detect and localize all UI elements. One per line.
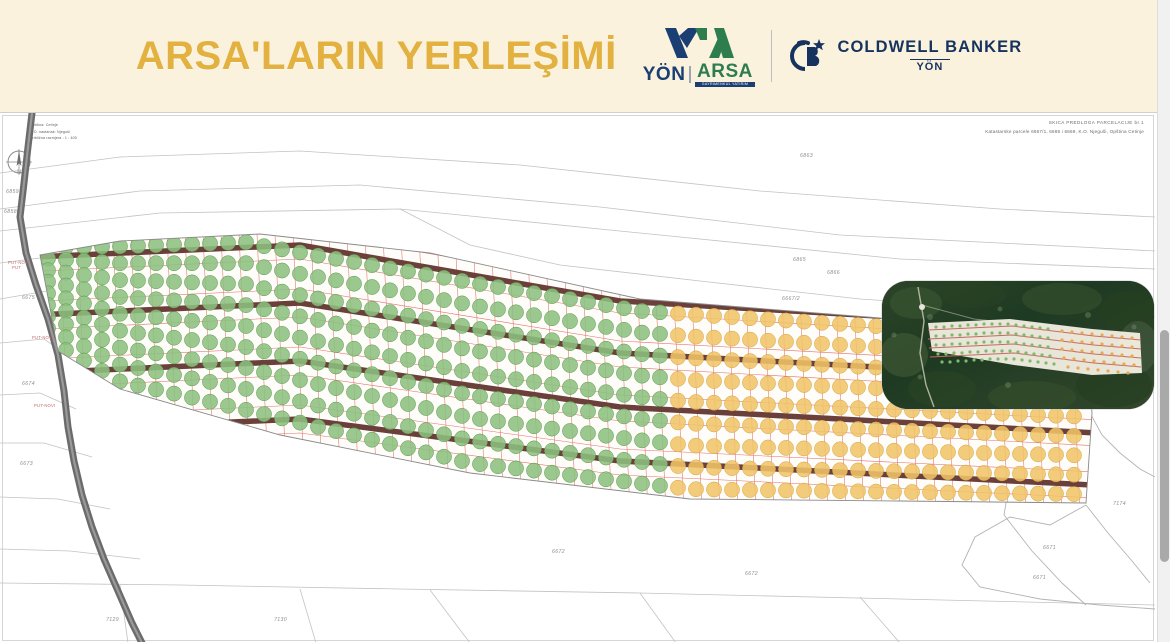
parcel-circle[interactable] xyxy=(508,282,523,297)
parcel-circle[interactable] xyxy=(580,426,595,441)
parcel-circle[interactable] xyxy=(994,426,1009,441)
parcel-circle[interactable] xyxy=(598,428,613,443)
parcel-circle[interactable] xyxy=(742,397,757,412)
parcel-circle[interactable] xyxy=(1066,428,1081,443)
parcel-circle[interactable] xyxy=(850,442,865,457)
parcel-circle[interactable] xyxy=(760,376,775,391)
parcel-circle[interactable] xyxy=(364,323,379,338)
parcel-circle[interactable] xyxy=(346,406,361,421)
parcel-circle[interactable] xyxy=(364,258,379,273)
parcel-circle[interactable] xyxy=(454,318,469,333)
parcel-circle[interactable] xyxy=(364,279,379,294)
parcel-circle[interactable] xyxy=(310,419,325,434)
parcel-circle[interactable] xyxy=(544,289,559,304)
parcel-circle[interactable] xyxy=(1012,486,1027,501)
parcel-circle[interactable] xyxy=(292,330,307,345)
parcel-circle[interactable] xyxy=(526,441,541,456)
parcel-circle[interactable] xyxy=(670,306,685,321)
parcel-circle[interactable] xyxy=(310,270,325,285)
parcel-circle[interactable] xyxy=(292,394,307,409)
parcel-circle[interactable] xyxy=(274,326,289,341)
parcel-circle[interactable] xyxy=(544,311,559,326)
parcel-circle[interactable] xyxy=(1012,446,1027,461)
parcel-circle[interactable] xyxy=(94,332,109,347)
parcel-circle[interactable] xyxy=(418,400,433,415)
parcel-circle[interactable] xyxy=(850,380,865,395)
parcel-circle[interactable] xyxy=(130,256,145,271)
parcel-circle[interactable] xyxy=(292,415,307,430)
parcel-circle[interactable] xyxy=(778,419,793,434)
parcel-circle[interactable] xyxy=(958,425,973,440)
parcel-circle[interactable] xyxy=(526,374,541,389)
parcel-circle[interactable] xyxy=(1048,467,1063,482)
parcel-circle[interactable] xyxy=(742,418,757,433)
parcel-circle[interactable] xyxy=(418,267,433,282)
parcel-circle[interactable] xyxy=(814,336,829,351)
parcel-circle[interactable] xyxy=(796,377,811,392)
parcel-circle[interactable] xyxy=(724,353,739,368)
parcel-circle[interactable] xyxy=(742,439,757,454)
parcel-circle[interactable] xyxy=(796,483,811,498)
parcel-circle[interactable] xyxy=(562,467,577,482)
parcel-circle[interactable] xyxy=(616,431,631,446)
parcel-circle[interactable] xyxy=(202,374,217,389)
parcel-circle[interactable] xyxy=(688,438,703,453)
parcel-circle[interactable] xyxy=(526,396,541,411)
parcel-circle[interactable] xyxy=(346,341,361,356)
parcel-circle[interactable] xyxy=(256,386,271,401)
parcel-circle[interactable] xyxy=(490,414,505,429)
parcel-circle[interactable] xyxy=(598,298,613,313)
parcel-circle[interactable] xyxy=(382,436,397,451)
parcel-circle[interactable] xyxy=(94,301,109,316)
parcel-circle[interactable] xyxy=(724,309,739,324)
parcel-circle[interactable] xyxy=(1048,428,1063,443)
parcel-circle[interactable] xyxy=(1048,408,1063,423)
parcel-circle[interactable] xyxy=(238,402,253,417)
parcel-circle[interactable] xyxy=(562,445,577,460)
parcel-circle[interactable] xyxy=(76,324,91,339)
parcel-circle[interactable] xyxy=(562,292,577,307)
parcel-circle[interactable] xyxy=(976,485,991,500)
parcel-circle[interactable] xyxy=(364,410,379,425)
parcel-circle[interactable] xyxy=(454,296,469,311)
parcel-circle[interactable] xyxy=(598,406,613,421)
parcel-circle[interactable] xyxy=(598,319,613,334)
parcel-circle[interactable] xyxy=(328,402,343,417)
parcel-circle[interactable] xyxy=(166,293,181,308)
parcel-circle[interactable] xyxy=(346,428,361,443)
parcel-circle[interactable] xyxy=(328,337,343,352)
parcel-circle[interactable] xyxy=(526,463,541,478)
parcel-circle[interactable] xyxy=(382,349,397,364)
parcel-circle[interactable] xyxy=(1066,467,1081,482)
parcel-circle[interactable] xyxy=(418,356,433,371)
parcel-circle[interactable] xyxy=(616,409,631,424)
parcel-circle[interactable] xyxy=(832,442,847,457)
parcel-circle[interactable] xyxy=(184,352,199,367)
parcel-circle[interactable] xyxy=(652,326,667,341)
parcel-circle[interactable] xyxy=(994,486,1009,501)
parcel-circle[interactable] xyxy=(292,373,307,388)
parcel-circle[interactable] xyxy=(490,324,505,339)
parcel-circle[interactable] xyxy=(616,452,631,467)
parcel-circle[interactable] xyxy=(220,256,235,271)
parcel-circle[interactable] xyxy=(706,330,721,345)
parcel-circle[interactable] xyxy=(850,338,865,353)
parcel-circle[interactable] xyxy=(472,457,487,472)
parcel-circle[interactable] xyxy=(310,398,325,413)
parcel-circle[interactable] xyxy=(112,357,127,372)
parcel-circle[interactable] xyxy=(274,305,289,320)
parcel-circle[interactable] xyxy=(238,277,253,292)
parcel-circle[interactable] xyxy=(130,308,145,323)
parcel-circle[interactable] xyxy=(724,461,739,476)
parcel-circle[interactable] xyxy=(634,347,649,362)
parcel-circle[interactable] xyxy=(220,276,235,291)
parcel-circle[interactable] xyxy=(76,253,91,268)
parcel-circle[interactable] xyxy=(868,484,883,499)
parcel-circle[interactable] xyxy=(850,401,865,416)
parcel-circle[interactable] xyxy=(418,378,433,393)
parcel-circle[interactable] xyxy=(814,399,829,414)
parcel-circle[interactable] xyxy=(256,281,271,296)
parcel-circle[interactable] xyxy=(76,353,91,368)
parcel-circle[interactable] xyxy=(202,236,217,251)
parcel-circle[interactable] xyxy=(274,411,289,426)
parcel-circle[interactable] xyxy=(418,334,433,349)
parcel-circle[interactable] xyxy=(922,424,937,439)
parcel-circle[interactable] xyxy=(652,435,667,450)
parcel-circle[interactable] xyxy=(832,463,847,478)
parcel-circle[interactable] xyxy=(796,314,811,329)
parcel-circle[interactable] xyxy=(166,349,181,364)
parcel-circle[interactable] xyxy=(418,289,433,304)
parcel-circle[interactable] xyxy=(562,423,577,438)
parcel-circle[interactable] xyxy=(202,275,217,290)
parcel-circle[interactable] xyxy=(382,327,397,342)
parcel-circle[interactable] xyxy=(670,437,685,452)
parcel-circle[interactable] xyxy=(688,482,703,497)
parcel-circle[interactable] xyxy=(904,464,919,479)
parcel-circle[interactable] xyxy=(652,391,667,406)
parcel-circle[interactable] xyxy=(382,283,397,298)
parcel-circle[interactable] xyxy=(94,254,109,269)
parcel-circle[interactable] xyxy=(94,317,109,332)
parcel-circle[interactable] xyxy=(796,420,811,435)
parcel-circle[interactable] xyxy=(1012,407,1027,422)
parcel-circle[interactable] xyxy=(868,443,883,458)
parcel-circle[interactable] xyxy=(346,385,361,400)
parcel-circle[interactable] xyxy=(580,448,595,463)
parcel-circle[interactable] xyxy=(742,375,757,390)
parcel-circle[interactable] xyxy=(796,356,811,371)
parcel-circle[interactable] xyxy=(166,237,181,252)
parcel-circle[interactable] xyxy=(328,316,343,331)
parcel-circle[interactable] xyxy=(292,309,307,324)
parcel-circle[interactable] xyxy=(778,440,793,455)
parcel-circle[interactable] xyxy=(580,404,595,419)
parcel-circle[interactable] xyxy=(922,444,937,459)
parcel-circle[interactable] xyxy=(130,378,145,393)
parcel-circle[interactable] xyxy=(778,313,793,328)
parcel-circle[interactable] xyxy=(184,236,199,251)
parcel-circle[interactable] xyxy=(220,235,235,250)
parcel-circle[interactable] xyxy=(598,385,613,400)
parcel-circle[interactable] xyxy=(958,465,973,480)
parcel-circle[interactable] xyxy=(166,330,181,345)
parcel-circle[interactable] xyxy=(922,485,937,500)
parcel-circle[interactable] xyxy=(400,374,415,389)
parcel-circle[interactable] xyxy=(328,294,343,309)
parcel-circle[interactable] xyxy=(436,293,451,308)
parcel-circle[interactable] xyxy=(724,374,739,389)
parcel-circle[interactable] xyxy=(382,414,397,429)
parcel-circle[interactable] xyxy=(886,423,901,438)
parcel-circle[interactable] xyxy=(94,363,109,378)
parcel-circle[interactable] xyxy=(472,434,487,449)
parcel-circle[interactable] xyxy=(400,264,415,279)
parcel-circle[interactable] xyxy=(580,382,595,397)
parcel-circle[interactable] xyxy=(868,401,883,416)
parcel-circle[interactable] xyxy=(130,360,145,375)
parcel-circle[interactable] xyxy=(724,439,739,454)
parcel-circle[interactable] xyxy=(994,446,1009,461)
parcel-circle[interactable] xyxy=(454,408,469,423)
parcel-circle[interactable] xyxy=(634,433,649,448)
parcel-circle[interactable] xyxy=(958,445,973,460)
parcel-circle[interactable] xyxy=(490,369,505,384)
vertical-scrollbar[interactable] xyxy=(1157,0,1170,642)
parcel-circle[interactable] xyxy=(166,386,181,401)
parcel-circle[interactable] xyxy=(778,377,793,392)
parcel-circle[interactable] xyxy=(220,317,235,332)
parcel-circle[interactable] xyxy=(490,391,505,406)
parcel-circle[interactable] xyxy=(940,424,955,439)
parcel-circle[interactable] xyxy=(814,462,829,477)
parcel-circle[interactable] xyxy=(454,341,469,356)
parcel-circle[interactable] xyxy=(670,480,685,495)
parcel-circle[interactable] xyxy=(112,323,127,338)
parcel-circle[interactable] xyxy=(760,440,775,455)
parcel-circle[interactable] xyxy=(130,273,145,288)
parcel-circle[interactable] xyxy=(436,337,451,352)
parcel-circle[interactable] xyxy=(688,394,703,409)
parcel-circle[interactable] xyxy=(1066,409,1081,424)
parcel-circle[interactable] xyxy=(886,443,901,458)
parcel-circle[interactable] xyxy=(382,371,397,386)
parcel-circle[interactable] xyxy=(850,317,865,332)
parcel-circle[interactable] xyxy=(220,337,235,352)
parcel-circle[interactable] xyxy=(256,260,271,275)
parcel-circle[interactable] xyxy=(1030,427,1045,442)
parcel-circle[interactable] xyxy=(940,465,955,480)
parcel-circle[interactable] xyxy=(112,306,127,321)
parcel-circle[interactable] xyxy=(310,248,325,263)
parcel-circle[interactable] xyxy=(472,411,487,426)
parcel-circle[interactable] xyxy=(436,449,451,464)
parcel-circle[interactable] xyxy=(166,367,181,382)
parcel-circle[interactable] xyxy=(256,323,271,338)
parcel-circle[interactable] xyxy=(490,459,505,474)
parcel-circle[interactable] xyxy=(328,424,343,439)
parcel-circle[interactable] xyxy=(508,372,523,387)
parcel-circle[interactable] xyxy=(220,357,235,372)
parcel-circle[interactable] xyxy=(382,392,397,407)
parcel-circle[interactable] xyxy=(94,239,109,254)
parcel-circle[interactable] xyxy=(544,333,559,348)
parcel-circle[interactable] xyxy=(652,370,667,385)
parcel-circle[interactable] xyxy=(832,421,847,436)
parcel-circle[interactable] xyxy=(760,312,775,327)
parcel-circle[interactable] xyxy=(886,484,901,499)
parcel-circle[interactable] xyxy=(112,273,127,288)
parcel-circle[interactable] xyxy=(328,251,343,266)
parcel-circle[interactable] xyxy=(130,343,145,358)
parcel-circle[interactable] xyxy=(292,266,307,281)
parcel-circle[interactable] xyxy=(490,302,505,317)
parcel-circle[interactable] xyxy=(112,374,127,389)
parcel-circle[interactable] xyxy=(814,420,829,435)
parcel-circle[interactable] xyxy=(562,357,577,372)
parcel-circle[interactable] xyxy=(832,400,847,415)
parcel-circle[interactable] xyxy=(832,358,847,373)
parcel-circle[interactable] xyxy=(616,366,631,381)
parcel-circle[interactable] xyxy=(238,339,253,354)
parcel-circle[interactable] xyxy=(778,334,793,349)
parcel-circle[interactable] xyxy=(400,419,415,434)
parcel-circle[interactable] xyxy=(328,381,343,396)
parcel-circle[interactable] xyxy=(220,378,235,393)
parcel-circle[interactable] xyxy=(760,333,775,348)
parcel-circle[interactable] xyxy=(166,274,181,289)
parcel-circle[interactable] xyxy=(760,419,775,434)
parcel-circle[interactable] xyxy=(400,441,415,456)
parcel-circle[interactable] xyxy=(832,316,847,331)
parcel-circle[interactable] xyxy=(958,485,973,500)
parcel-circle[interactable] xyxy=(346,363,361,378)
parcel-circle[interactable] xyxy=(634,476,649,491)
parcel-circle[interactable] xyxy=(1012,466,1027,481)
parcel-circle[interactable] xyxy=(904,484,919,499)
parcel-circle[interactable] xyxy=(454,363,469,378)
parcel-circle[interactable] xyxy=(922,464,937,479)
parcel-circle[interactable] xyxy=(634,303,649,318)
parcel-circle[interactable] xyxy=(130,291,145,306)
parcel-circle[interactable] xyxy=(130,326,145,341)
parcel-circle[interactable] xyxy=(814,315,829,330)
parcel-circle[interactable] xyxy=(508,327,523,342)
parcel-circle[interactable] xyxy=(184,332,199,347)
parcel-circle[interactable] xyxy=(238,381,253,396)
parcel-circle[interactable] xyxy=(94,286,109,301)
parcel-circle[interactable] xyxy=(976,465,991,480)
parcel-circle[interactable] xyxy=(256,365,271,380)
parcel-circle[interactable] xyxy=(652,456,667,471)
parcel-circle[interactable] xyxy=(184,390,199,405)
parcel-circle[interactable] xyxy=(148,382,163,397)
parcel-circle[interactable] xyxy=(400,286,415,301)
parcel-circle[interactable] xyxy=(274,347,289,362)
parcel-circle[interactable] xyxy=(706,482,721,497)
parcel-circle[interactable] xyxy=(670,350,685,365)
parcel-circle[interactable] xyxy=(1030,408,1045,423)
parcel-circle[interactable] xyxy=(436,315,451,330)
parcel-circle[interactable] xyxy=(220,296,235,311)
parcel-circle[interactable] xyxy=(868,422,883,437)
parcel-circle[interactable] xyxy=(382,305,397,320)
parcel-circle[interactable] xyxy=(418,445,433,460)
parcel-circle[interactable] xyxy=(112,340,127,355)
parcel-circle[interactable] xyxy=(706,460,721,475)
parcel-circle[interactable] xyxy=(76,282,91,297)
parcel-circle[interactable] xyxy=(472,366,487,381)
parcel-circle[interactable] xyxy=(706,417,721,432)
parcel-circle[interactable] xyxy=(760,483,775,498)
parcel-circle[interactable] xyxy=(292,351,307,366)
parcel-circle[interactable] xyxy=(742,461,757,476)
parcel-circle[interactable] xyxy=(634,368,649,383)
parcel-circle[interactable] xyxy=(580,338,595,353)
parcel-circle[interactable] xyxy=(670,328,685,343)
parcel-circle[interactable] xyxy=(112,289,127,304)
parcel-circle[interactable] xyxy=(688,351,703,366)
parcel-circle[interactable] xyxy=(814,357,829,372)
parcel-circle[interactable] xyxy=(238,235,253,250)
parcel-circle[interactable] xyxy=(472,321,487,336)
parcel-circle[interactable] xyxy=(328,359,343,374)
parcel-circle[interactable] xyxy=(976,425,991,440)
parcel-circle[interactable] xyxy=(598,363,613,378)
parcel-circle[interactable] xyxy=(778,398,793,413)
parcel-circle[interactable] xyxy=(778,462,793,477)
parcel-circle[interactable] xyxy=(436,427,451,442)
parcel-circle[interactable] xyxy=(1030,466,1045,481)
parcel-circle[interactable] xyxy=(202,394,217,409)
parcel-circle[interactable] xyxy=(796,441,811,456)
parcel-circle[interactable] xyxy=(454,453,469,468)
parcel-circle[interactable] xyxy=(508,416,523,431)
parcel-circle[interactable] xyxy=(1048,447,1063,462)
parcel-circle[interactable] xyxy=(724,482,739,497)
parcel-circle[interactable] xyxy=(742,482,757,497)
parcel-circle[interactable] xyxy=(706,395,721,410)
parcel-circle[interactable] xyxy=(688,373,703,388)
parcel-circle[interactable] xyxy=(850,463,865,478)
parcel-circle[interactable] xyxy=(544,421,559,436)
parcel-circle[interactable] xyxy=(490,347,505,362)
parcel-circle[interactable] xyxy=(220,398,235,413)
parcel-circle[interactable] xyxy=(256,407,271,422)
parcel-circle[interactable] xyxy=(1030,447,1045,462)
parcel-circle[interactable] xyxy=(526,330,541,345)
parcel-circle[interactable] xyxy=(1030,486,1045,501)
parcel-circle[interactable] xyxy=(202,355,217,370)
parcel-circle[interactable] xyxy=(526,308,541,323)
parcel-circle[interactable] xyxy=(724,396,739,411)
parcel-circle[interactable] xyxy=(364,367,379,382)
parcel-circle[interactable] xyxy=(454,386,469,401)
parcel-circle[interactable] xyxy=(148,328,163,343)
parcel-circle[interactable] xyxy=(112,256,127,271)
parcel-circle[interactable] xyxy=(256,302,271,317)
parcel-circle[interactable] xyxy=(76,268,91,283)
parcel-circle[interactable] xyxy=(886,464,901,479)
parcel-circle[interactable] xyxy=(652,478,667,493)
parcel-circle[interactable] xyxy=(994,466,1009,481)
parcel-circle[interactable] xyxy=(76,296,91,311)
parcel-circle[interactable] xyxy=(778,355,793,370)
